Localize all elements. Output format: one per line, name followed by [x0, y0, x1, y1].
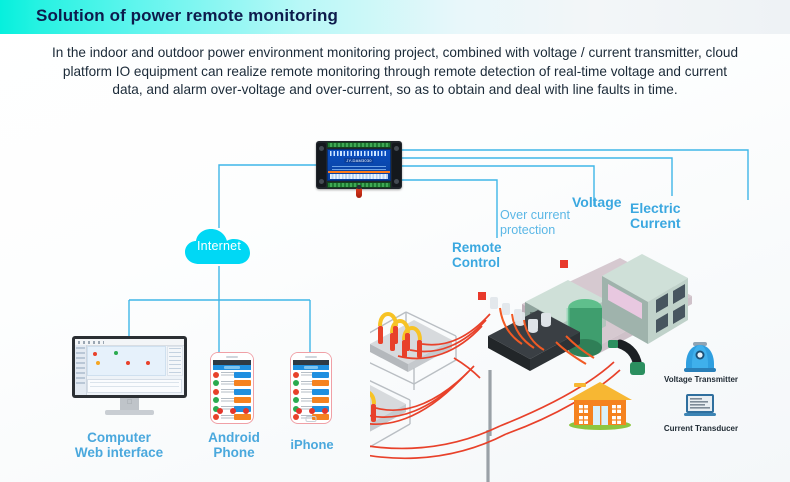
app-toolbar	[75, 339, 184, 346]
item-action-button	[312, 397, 329, 403]
item-text	[221, 398, 235, 402]
status-icon	[293, 380, 299, 386]
app-main-panel	[87, 346, 166, 376]
module-orange-stripe	[328, 171, 390, 173]
phone-tab-bar	[213, 365, 251, 370]
home-button-icon	[306, 416, 317, 422]
phone-footer-icons	[214, 408, 250, 416]
substation-scene	[370, 240, 700, 482]
current-transducer-icon	[681, 392, 719, 422]
station-tank	[568, 299, 602, 357]
module-faceplate: JY-DAM3030	[327, 149, 391, 181]
cloud-label: Internet	[183, 239, 255, 253]
status-dot-ok	[114, 351, 118, 355]
monitor-bezel	[72, 336, 187, 398]
footer-icon-2	[230, 408, 236, 414]
item-action-button	[312, 380, 329, 386]
item-action-button	[234, 372, 251, 378]
station-red-marker	[478, 292, 486, 300]
footer-icon-1	[217, 408, 223, 414]
status-dot-alarm-2	[126, 361, 130, 365]
house-illustration	[566, 378, 634, 430]
module-bottom-strip	[330, 174, 388, 179]
list-item	[213, 397, 251, 404]
item-text	[221, 389, 235, 393]
module-led-strip	[330, 151, 388, 156]
house-chimney	[574, 383, 586, 387]
status-dot-alarm	[93, 352, 97, 356]
item-action-button	[312, 372, 329, 378]
item-action-button	[234, 380, 251, 386]
item-text	[221, 372, 235, 376]
list-item	[293, 380, 329, 387]
internet-cloud: Internet	[183, 228, 255, 266]
footer-icon-3	[243, 408, 249, 414]
phone-earpiece	[291, 353, 331, 360]
app-right-panel	[167, 346, 183, 376]
module-terminal-top	[327, 142, 391, 148]
list-item	[213, 371, 251, 378]
android-phone	[210, 352, 254, 424]
item-action-button	[312, 389, 329, 395]
module-model-label: JY-DAM3030	[344, 158, 373, 163]
module-antenna	[356, 188, 362, 198]
label-voltage: Voltage	[572, 195, 622, 210]
app-sidebar	[75, 345, 87, 395]
status-icon	[213, 397, 219, 403]
status-icon	[293, 389, 299, 395]
label-electric-current: Electric Current	[630, 201, 681, 231]
status-dot-alarm-3	[146, 361, 150, 365]
apple-logo-icon: 	[127, 399, 133, 406]
infographic-page: Solution of power remote monitoring In t…	[0, 0, 790, 482]
status-icon	[293, 397, 299, 403]
status-dot-warn	[96, 361, 100, 365]
footer-icon-3	[322, 408, 328, 414]
label-computer-web-interface: Computer Web interface	[48, 430, 190, 460]
list-item	[213, 388, 251, 395]
iphone	[290, 352, 332, 424]
station-insulators	[490, 297, 522, 321]
house-door-split	[600, 406, 601, 425]
voltage-transmitter-label: Voltage Transmitter	[655, 375, 747, 384]
list-item	[213, 380, 251, 387]
list-item	[293, 371, 329, 378]
phone-list	[293, 371, 329, 409]
list-item	[293, 388, 329, 395]
item-text	[221, 381, 235, 385]
label-android-phone: Android Phone	[192, 430, 276, 460]
status-icon	[213, 372, 219, 378]
status-icon	[213, 389, 219, 395]
module-mount-left	[317, 143, 326, 187]
monitor-stand-base	[105, 410, 154, 415]
label-iphone: iPhone	[278, 437, 346, 452]
phone-list	[213, 371, 251, 409]
item-action-button	[234, 397, 251, 403]
voltage-transmitter-icon	[682, 342, 718, 374]
footer-icon-1	[296, 408, 302, 414]
phone-earpiece	[211, 353, 253, 360]
app-log-panel	[87, 379, 182, 393]
phone-tab-bar	[293, 365, 329, 370]
label-over-current-protection: Over current protection	[500, 208, 570, 238]
item-action-button	[234, 389, 251, 395]
station-red-marker-2	[560, 260, 568, 268]
list-item	[293, 397, 329, 404]
module-mount-right	[392, 143, 401, 187]
status-icon	[213, 380, 219, 386]
footer-icon-2	[309, 408, 315, 414]
computer-monitor: 	[72, 336, 187, 418]
monitor-screen	[75, 339, 184, 395]
station-cable-duct	[608, 340, 645, 375]
io-module-device: JY-DAM3030	[316, 141, 402, 189]
current-transducer-label: Current Transducer	[653, 424, 749, 433]
status-icon	[293, 372, 299, 378]
substation-tower-lower	[370, 376, 410, 448]
